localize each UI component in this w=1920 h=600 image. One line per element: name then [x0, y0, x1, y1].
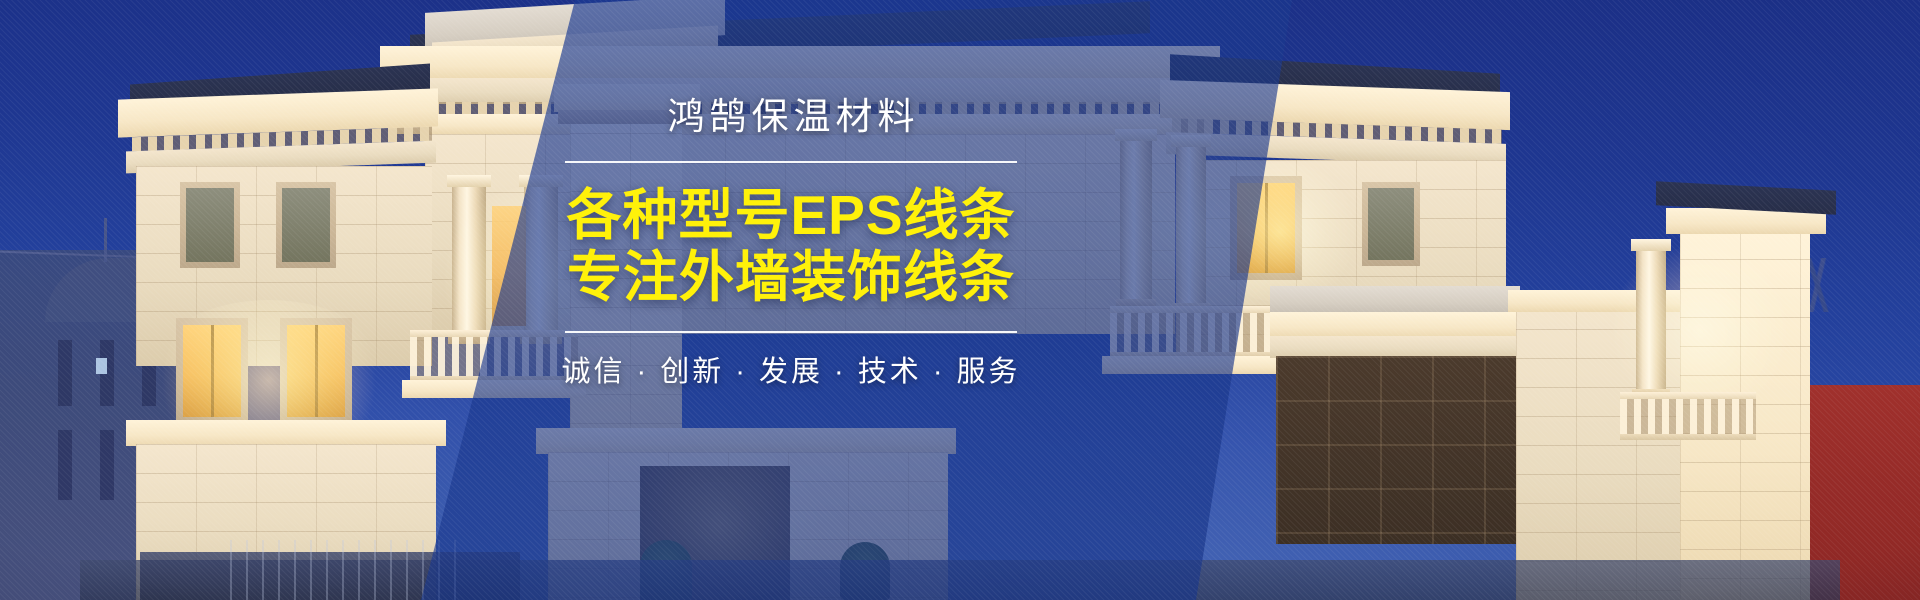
divider-top [565, 161, 1017, 163]
left-wing-base-cornice [126, 420, 446, 446]
garage-lintel [1270, 286, 1520, 314]
tagline: 诚信 · 创新 · 发展 · 技术 · 服务 [556, 355, 1026, 390]
headline-line-1: 各种型号EPS线条 [566, 184, 1015, 246]
far-right-glow [1610, 246, 1790, 416]
background-window [58, 340, 72, 406]
window-glass [282, 188, 330, 262]
brand-name: 鸿鹄保温材料 [556, 96, 1026, 137]
headline: 各种型号EPS线条 专注外墙装饰线条 [556, 185, 1026, 308]
far-right-balustrade [1620, 392, 1756, 440]
garage-cornice [1270, 312, 1520, 338]
background-window [58, 430, 72, 500]
window-glass [186, 188, 234, 262]
garage-door-panels [1276, 356, 1516, 544]
banner-copy: 鸿鹄保温材料 各种型号EPS线条 专注外墙装饰线条 诚信 · 创新 · 发展 ·… [556, 96, 1026, 389]
divider-bottom [565, 331, 1017, 333]
garage-band [1270, 336, 1520, 358]
window-glass [1368, 188, 1414, 260]
hero-banner: 鸿鹄保温材料 各种型号EPS线条 专注外墙装饰线条 诚信 · 创新 · 发展 ·… [0, 0, 1920, 600]
balusters [1620, 399, 1756, 434]
headline-line-2: 专注外墙装饰线条 [556, 247, 1026, 309]
